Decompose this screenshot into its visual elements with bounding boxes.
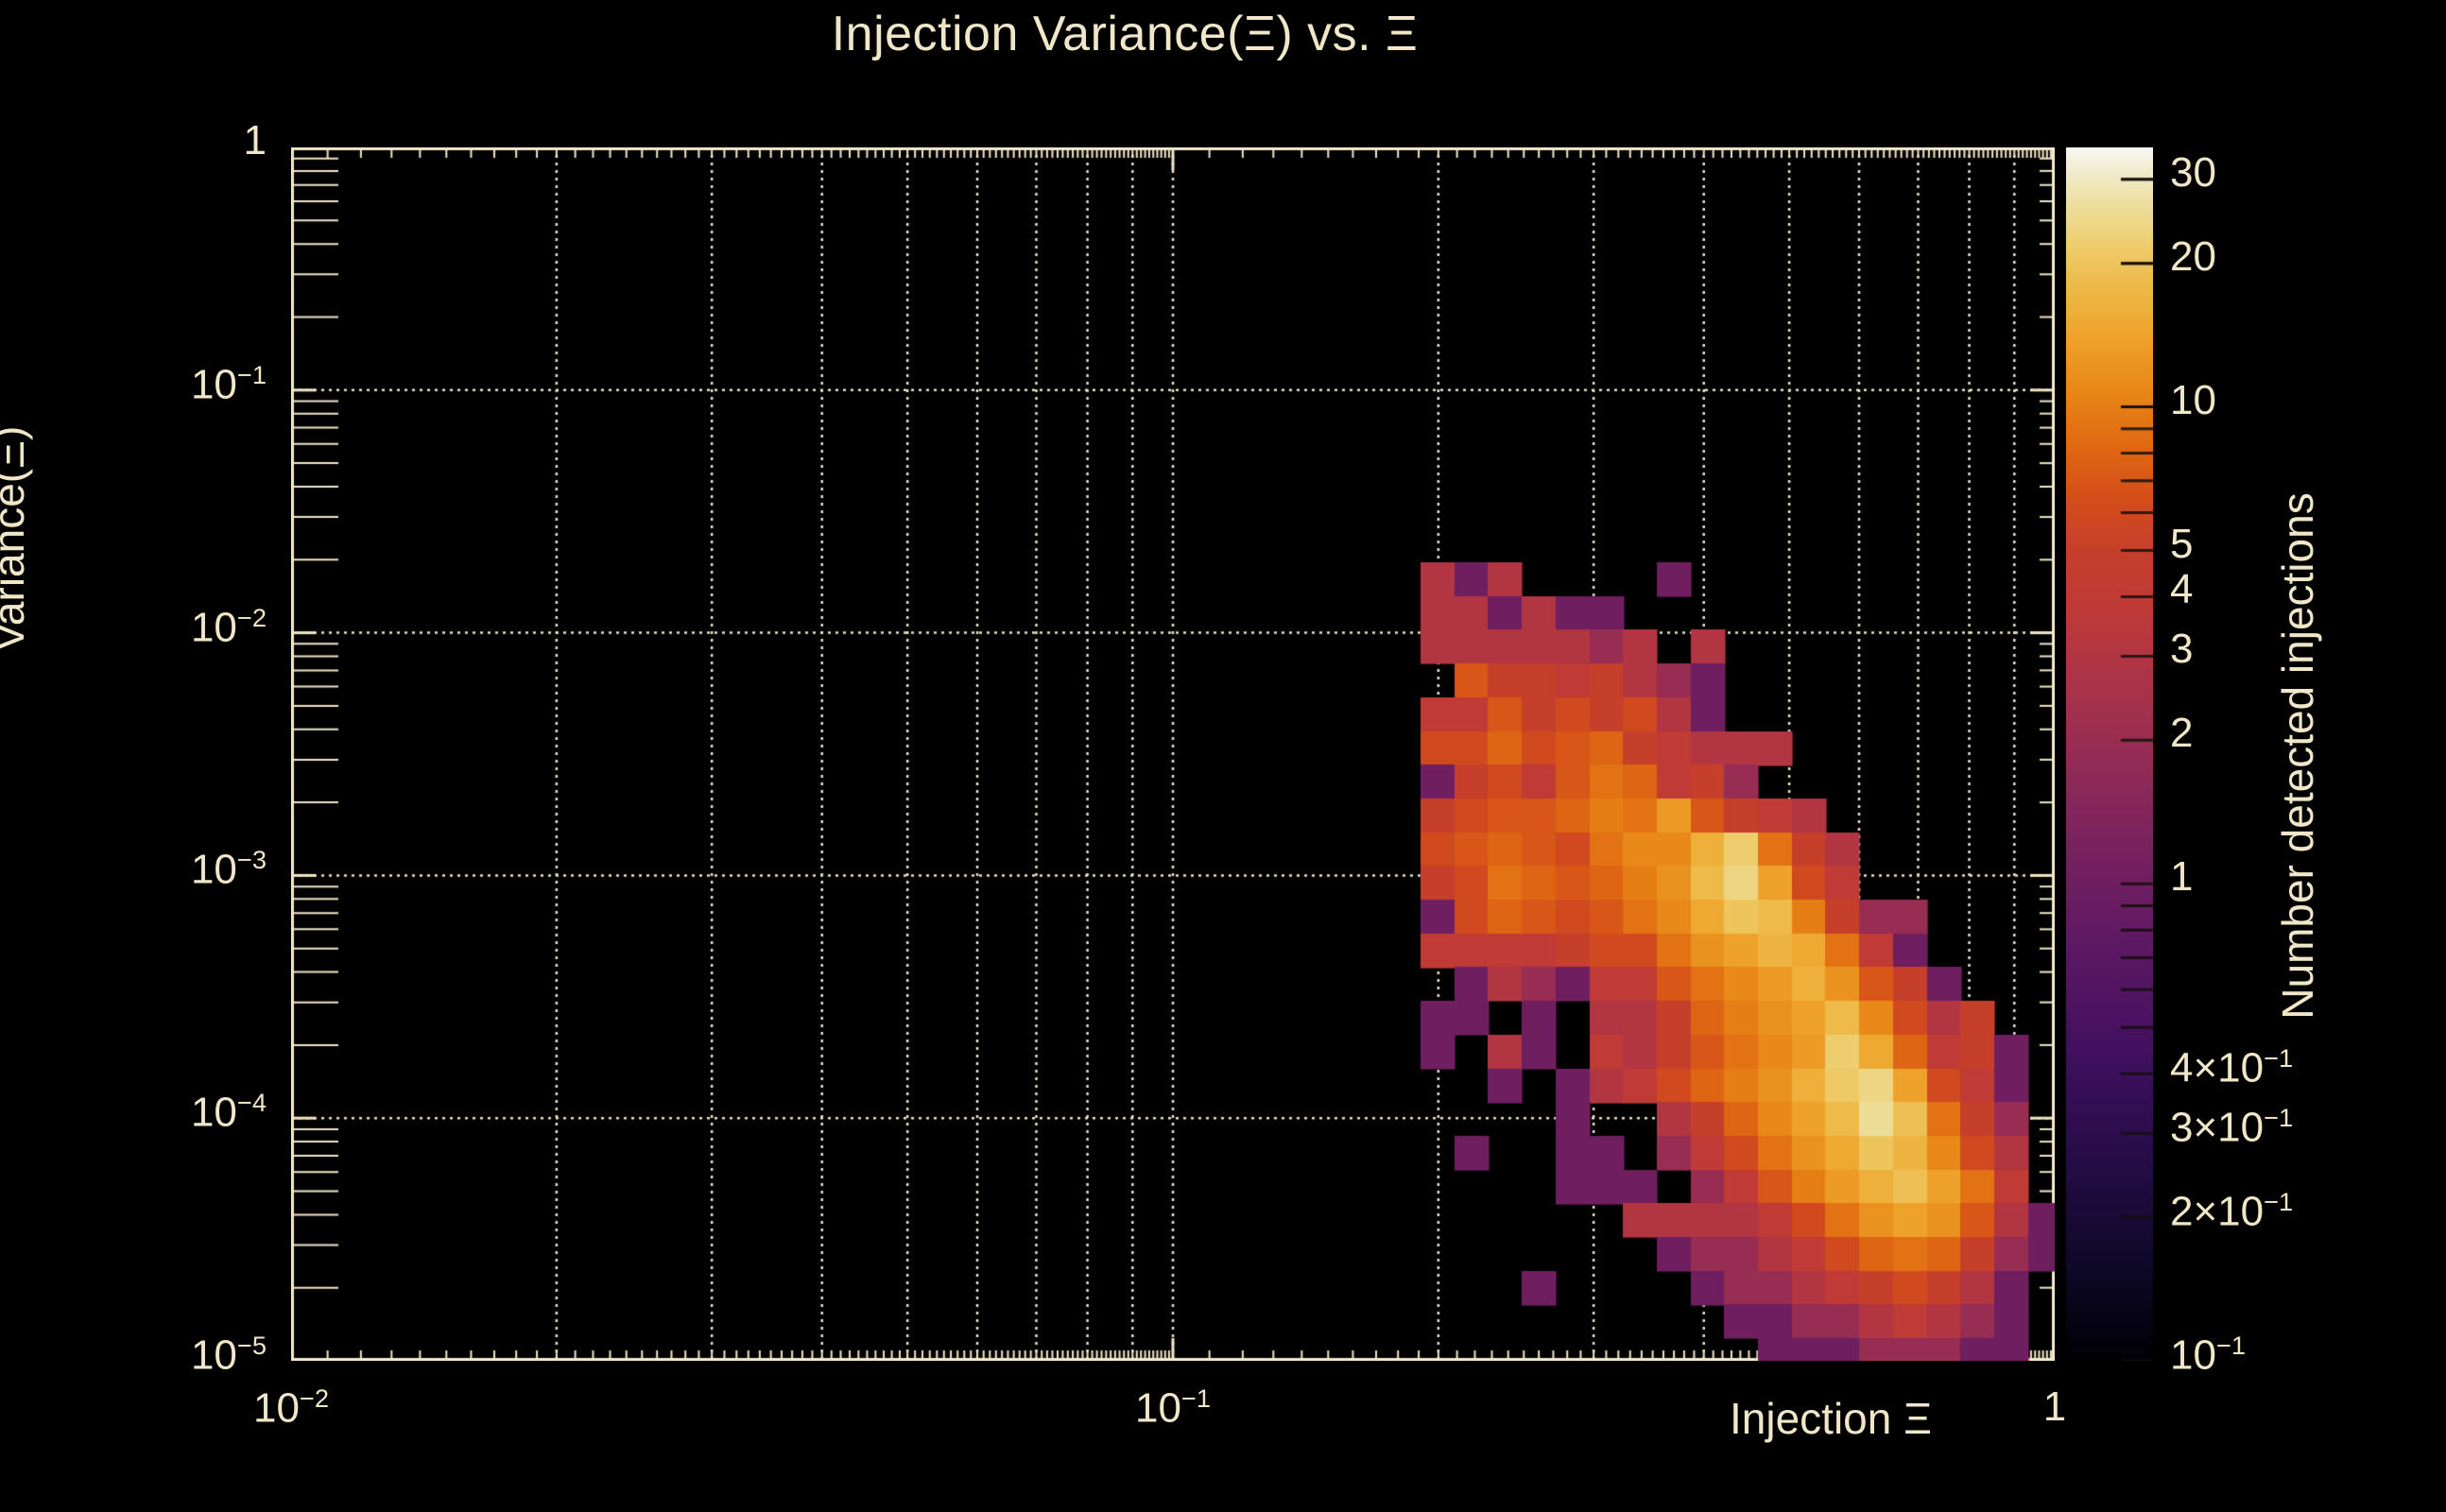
x-tick-label-1: 10−1 xyxy=(1078,1383,1267,1433)
y-tick-label-0: 1 xyxy=(96,117,267,164)
colorbar-tick-label-10: 2×10−1 xyxy=(2170,1187,2293,1236)
colorbar-label-text: Number detected injections xyxy=(2273,492,2322,1019)
y-tick-label-1: 10−1 xyxy=(96,360,267,409)
colorbar-tick-label-2: 10 xyxy=(2170,377,2216,424)
colorbar-tick-label-11: 10−1 xyxy=(2170,1331,2246,1380)
y-axis-label-text: Variance(Ξ) xyxy=(0,426,33,652)
colorbar-tick-label-0: 30 xyxy=(2170,149,2216,197)
heatmap-layer xyxy=(291,147,2055,1361)
y-tick-label-3: 10−3 xyxy=(96,845,267,894)
y-tick-label-4: 10−4 xyxy=(96,1088,267,1137)
colorbar-tick-label-5: 3 xyxy=(2170,626,2193,673)
colorbar-tick-label-7: 1 xyxy=(2170,853,2193,901)
y-tick-label-2: 10−2 xyxy=(96,603,267,652)
x-axis-label-text: Injection Ξ xyxy=(1730,1394,1932,1443)
page-title: Injection Variance(Ξ) vs. Ξ xyxy=(0,6,2249,62)
x-tick-label-2: 1 xyxy=(1960,1383,2149,1431)
colorbar-tick-label-1: 20 xyxy=(2170,233,2216,281)
plot-frame xyxy=(291,147,2055,1361)
colorbar-tick-label-6: 2 xyxy=(2170,710,2193,757)
y-tick-label-5: 10−5 xyxy=(96,1331,267,1380)
colorbar-gradient xyxy=(2066,147,2153,1361)
colorbar-tick-label-4: 4 xyxy=(2170,566,2193,613)
x-axis-label: Injection Ξ xyxy=(1730,1393,1932,1444)
colorbar xyxy=(2066,147,2153,1361)
x-tick-label-0: 10−2 xyxy=(197,1383,386,1433)
plot-root: Injection Variance(Ξ) vs. Ξ 110−110−210−… xyxy=(0,0,2446,1512)
y-axis-label: Variance(Ξ) xyxy=(0,340,34,737)
colorbar-tick-label-3: 5 xyxy=(2170,521,2193,568)
colorbar-label: Number detected injections xyxy=(2272,378,2323,1134)
